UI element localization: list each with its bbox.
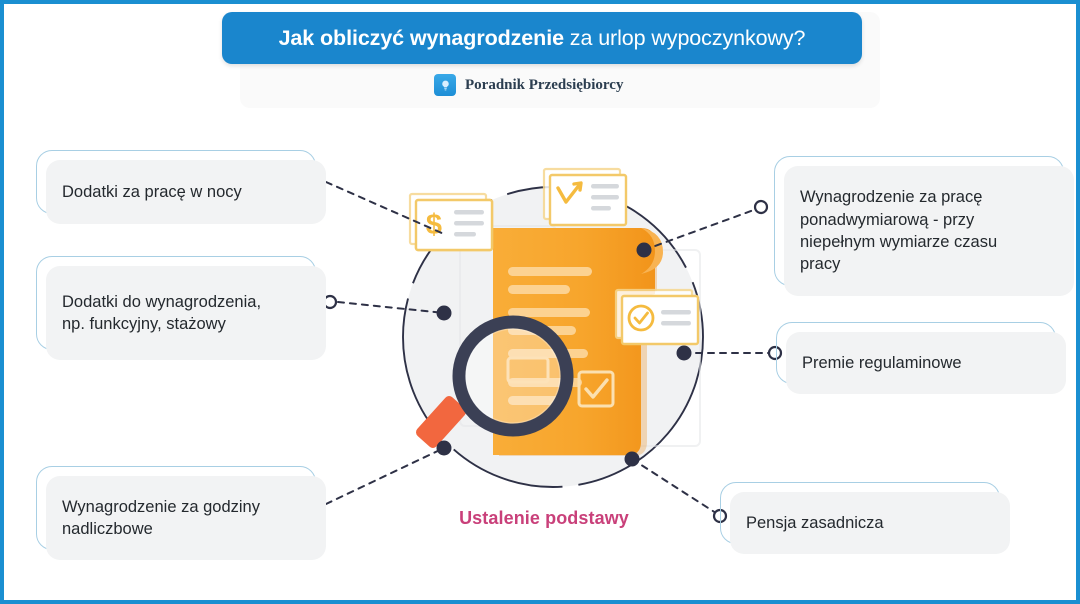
connector-dodatki	[338, 302, 444, 313]
document-icon	[493, 228, 663, 456]
check-clock-icon	[629, 306, 653, 330]
card-check	[616, 290, 698, 344]
callout-plate: Pensja zasadnicza	[730, 492, 1010, 554]
title-bar: Jak obliczyć wynagrodzenie za urlop wypo…	[222, 12, 862, 64]
callout-nodes	[312, 176, 781, 522]
node-premie	[677, 346, 692, 361]
callout-plate: Dodatki do wynagrodzenia, np. funkcyjny,…	[46, 266, 326, 360]
growth-arrow-icon	[558, 183, 581, 202]
connectors	[326, 182, 774, 515]
title-strong: Jak obliczyć wynagrodzenie	[279, 26, 564, 50]
page-title: Jak obliczyć wynagrodzenie za urlop wypo…	[279, 26, 806, 51]
center-circle	[403, 187, 703, 487]
background-sheets	[460, 226, 700, 446]
title-light: za urlop wypoczynkowy?	[564, 26, 805, 50]
card-growth	[544, 169, 626, 225]
card-dollar: $	[410, 194, 492, 250]
node-pensja	[625, 452, 640, 467]
callout-text: Wynagrodzenie za pracę ponadwymiarową - …	[784, 186, 1013, 275]
connector-nocne	[326, 182, 444, 234]
node-dodatki	[437, 306, 452, 321]
brand-name: Poradnik Przedsiębiorcy	[465, 77, 623, 94]
document-checkbox	[508, 358, 613, 406]
callout-dodatki-do-wynagrodzenia[interactable]: Dodatki do wynagrodzenia, np. funkcyjny,…	[36, 256, 326, 360]
callout-pensja-zasadnicza[interactable]: Pensja zasadnicza	[710, 482, 1000, 554]
callout-praca-ponadwymiarowa[interactable]: Wynagrodzenie za pracę ponadwymiarową - …	[764, 156, 1064, 296]
brand: Poradnik Przedsiębiorcy	[434, 74, 623, 96]
connector-ponadwymiarowa	[644, 207, 762, 250]
callout-text: Pensja zasadnicza	[730, 512, 900, 534]
infographic-page: Jak obliczyć wynagrodzenie za urlop wypo…	[0, 0, 1080, 604]
callout-premie-regulaminowe[interactable]: Premie regulaminowe	[766, 322, 1056, 394]
callout-plate: Dodatki za pracę w nocy	[46, 160, 326, 224]
connector-nadliczbowe	[326, 448, 444, 504]
callout-nocne-dodatki[interactable]: Dodatki za pracę w nocy	[36, 150, 326, 224]
node-ponadwymiarowa	[637, 243, 652, 258]
callout-godziny-nadliczbowe[interactable]: Wynagrodzenie za godziny nadliczbowe	[36, 466, 326, 560]
magnifier-icon	[459, 322, 567, 430]
callout-plate: Wynagrodzenie za godziny nadliczbowe	[46, 476, 326, 560]
callout-plate: Wynagrodzenie za pracę ponadwymiarową - …	[784, 166, 1074, 296]
magnifier-handle	[414, 394, 468, 450]
callout-plate: Premie regulaminowe	[786, 332, 1066, 394]
callout-text: Wynagrodzenie za godziny nadliczbowe	[46, 496, 276, 541]
document-text-lines	[508, 267, 592, 405]
callout-text: Dodatki do wynagrodzenia, np. funkcyjny,…	[46, 291, 277, 336]
callout-text: Premie regulaminowe	[786, 352, 978, 374]
node-nadliczbowe	[437, 441, 452, 456]
center-caption: Ustalenie podstawy	[419, 508, 669, 529]
callout-text: Dodatki za pracę w nocy	[46, 181, 258, 203]
lightbulb-icon	[434, 74, 456, 96]
circle-nodes	[437, 243, 692, 467]
connector-pensja	[632, 459, 719, 515]
dollar-icon: $	[426, 209, 442, 241]
